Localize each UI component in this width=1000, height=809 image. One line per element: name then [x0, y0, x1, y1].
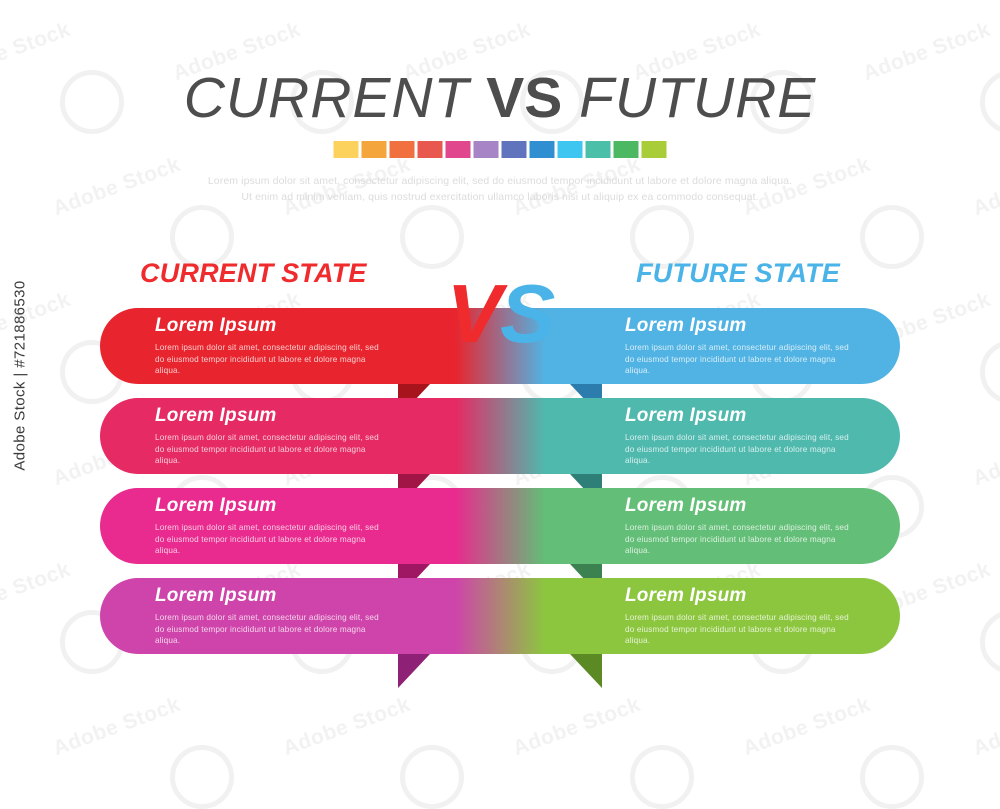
- left-content-bar[interactable]: Lorem IpsumLorem ipsum dolor sit amet, c…: [100, 398, 435, 474]
- center-connector: [430, 578, 570, 654]
- color-swatch-12: [642, 141, 667, 158]
- color-swatch-4: [418, 141, 443, 158]
- watermark-text: Adobe Stock: [280, 693, 414, 761]
- left-content-bar[interactable]: Lorem IpsumLorem ipsum dolor sit amet, c…: [100, 578, 435, 654]
- right-content-bar[interactable]: Lorem IpsumLorem ipsum dolor sit amet, c…: [565, 578, 900, 654]
- color-swatch-11: [614, 141, 639, 158]
- subtitle-line-1: Lorem ipsum dolor sit amet, consectetur …: [0, 173, 1000, 189]
- title-future: FUTURE: [579, 66, 816, 130]
- color-swatch-8: [530, 141, 555, 158]
- right-content-bar[interactable]: Lorem IpsumLorem ipsum dolor sit amet, c…: [565, 488, 900, 564]
- center-connector: [430, 488, 570, 564]
- right-bar-heading: Lorem Ipsum: [625, 495, 900, 517]
- left-bar-heading: Lorem Ipsum: [155, 495, 435, 517]
- color-swatch-3: [390, 141, 415, 158]
- color-swatch-7: [502, 141, 527, 158]
- comparison-row: Lorem IpsumLorem ipsum dolor sit amet, c…: [0, 398, 1000, 474]
- watermark-logo-icon: [400, 745, 464, 809]
- color-swatch-6: [474, 141, 499, 158]
- left-bar-description: Lorem ipsum dolor sit amet, consectetur …: [155, 612, 385, 647]
- color-swatch-9: [558, 141, 583, 158]
- vs-letter-v: V: [447, 267, 500, 360]
- left-bar-description: Lorem ipsum dolor sit amet, consectetur …: [155, 522, 385, 557]
- center-gradient: [430, 578, 570, 654]
- title-vs: VS: [486, 66, 562, 130]
- left-content-bar[interactable]: Lorem IpsumLorem ipsum dolor sit amet, c…: [100, 488, 435, 564]
- watermark-logo-icon: [860, 745, 924, 809]
- comparison-row: Lorem IpsumLorem ipsum dolor sit amet, c…: [0, 488, 1000, 564]
- left-bar-heading: Lorem Ipsum: [155, 585, 435, 607]
- page-subtitle: Lorem ipsum dolor sit amet, consectetur …: [0, 173, 1000, 205]
- comparison-row: Lorem IpsumLorem ipsum dolor sit amet, c…: [0, 578, 1000, 654]
- right-content-bar[interactable]: Lorem IpsumLorem ipsum dolor sit amet, c…: [565, 398, 900, 474]
- right-bar-heading: Lorem Ipsum: [625, 405, 900, 427]
- watermark-logo-icon: [630, 745, 694, 809]
- color-swatch-bar: [334, 141, 667, 158]
- color-swatch-5: [446, 141, 471, 158]
- color-swatch-1: [334, 141, 359, 158]
- watermark-logo-icon: [170, 745, 234, 809]
- left-bar-description: Lorem ipsum dolor sit amet, consectetur …: [155, 432, 385, 467]
- watermark-text: Adobe Stock: [740, 693, 874, 761]
- right-bar-description: Lorem ipsum dolor sit amet, consectetur …: [625, 522, 855, 557]
- left-bar-heading: Lorem Ipsum: [155, 405, 435, 427]
- infographic-page: Adobe StockAdobe StockAdobe StockAdobe S…: [0, 0, 1000, 750]
- color-swatch-2: [362, 141, 387, 158]
- right-bar-description: Lorem ipsum dolor sit amet, consectetur …: [625, 432, 855, 467]
- vs-letter-s: S: [500, 267, 553, 360]
- color-swatch-10: [586, 141, 611, 158]
- right-bar-description: Lorem ipsum dolor sit amet, consectetur …: [625, 612, 855, 647]
- watermark-text: Adobe Stock: [510, 693, 644, 761]
- center-gradient: [430, 398, 570, 474]
- watermark-text: Adobe Stock: [970, 693, 1000, 761]
- vs-badge: VS: [0, 272, 1000, 355]
- title-current: CURRENT: [184, 66, 470, 130]
- watermark-logo-icon: [400, 205, 464, 269]
- center-connector: [430, 398, 570, 474]
- comparison-rows: Lorem IpsumLorem ipsum dolor sit amet, c…: [0, 308, 1000, 678]
- watermark-logo-icon: [860, 205, 924, 269]
- page-title: CURRENT VS FUTURE: [0, 68, 1000, 128]
- right-bar-heading: Lorem Ipsum: [625, 585, 900, 607]
- center-gradient: [430, 488, 570, 564]
- watermark-text: Adobe Stock: [50, 693, 184, 761]
- subtitle-line-2: Ut enim ad minim veniam, quis nostrud ex…: [0, 189, 1000, 205]
